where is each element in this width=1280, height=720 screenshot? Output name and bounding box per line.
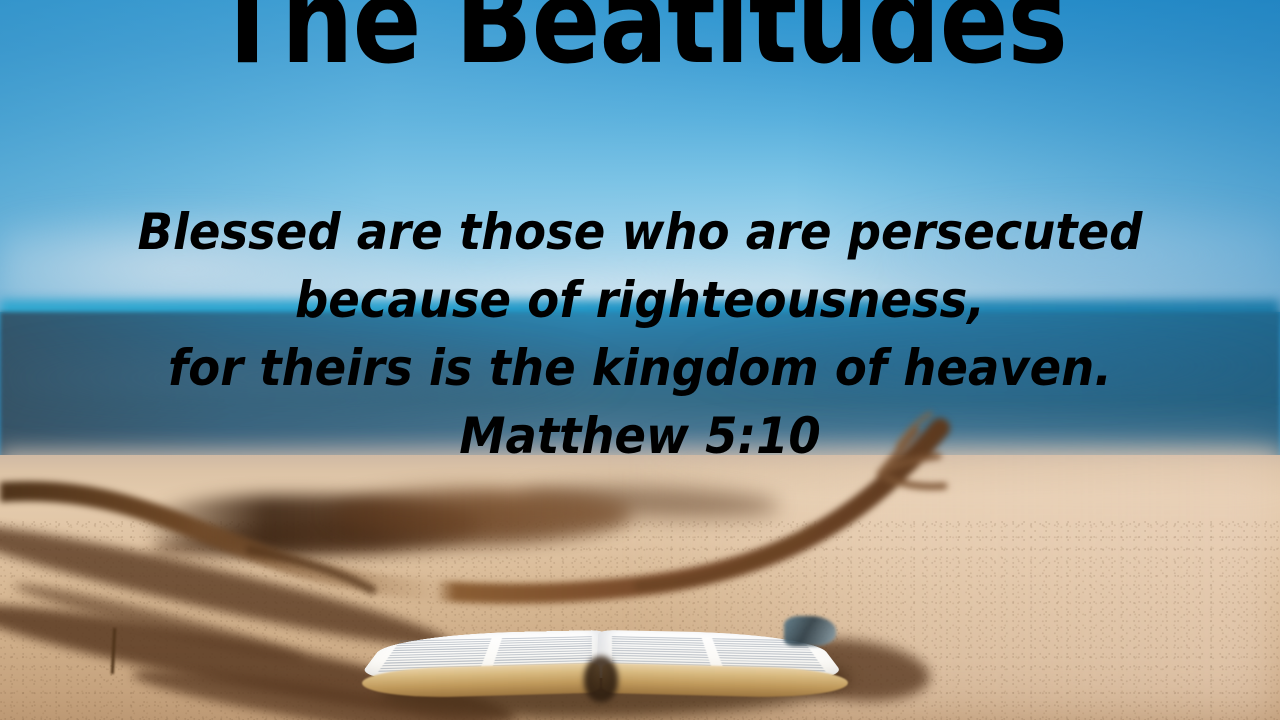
bible-spine [584, 656, 618, 702]
bible-bookmark [784, 616, 836, 646]
verse-reference: Matthew 5:10 [45, 402, 1235, 470]
verse-line-3: for theirs is the kingdom of heaven. [45, 334, 1235, 402]
verse-line-2: because of righteousness, [45, 266, 1235, 334]
page-title: The Beatitudes [90, 0, 1191, 80]
verse-line-1: Blessed are those who are persecuted [45, 198, 1235, 266]
open-bible [352, 594, 852, 720]
beatitudes-slide: The Beatitudes Blessed are those who are… [0, 0, 1280, 720]
verse-text: Blessed are those who are persecuted bec… [45, 198, 1235, 470]
